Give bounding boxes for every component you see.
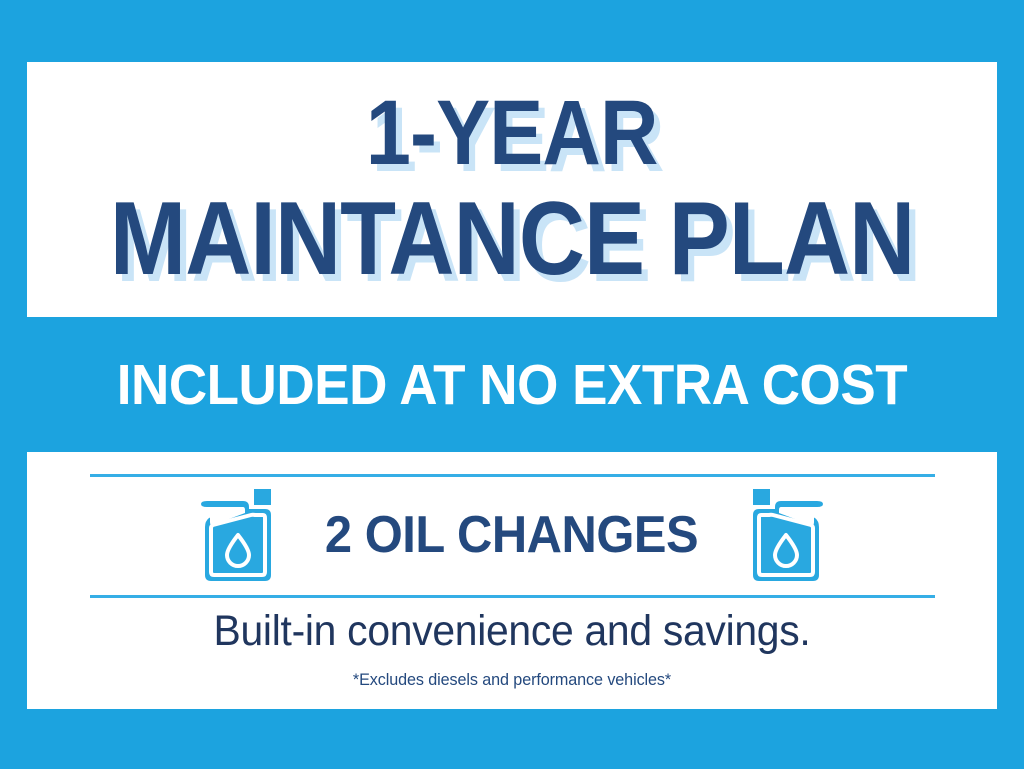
headline-line-2: MAINTANCE PLAN <box>110 189 915 291</box>
divider-rule-bottom <box>90 595 935 598</box>
headline-line-1: 1-YEAR <box>366 88 658 178</box>
tagline: Built-in convenience and savings. <box>51 607 973 656</box>
promo-poster: 1-YEAR MAINTANCE PLAN INCLUDED AT NO EXT… <box>0 0 1024 769</box>
oil-bottle-icon-right <box>751 487 825 583</box>
offer-row: 2 OIL CHANGES <box>27 482 997 588</box>
offer-label: 2 OIL CHANGES <box>325 505 698 565</box>
details-card: 2 OIL CHANGES Built-in convenience and s… <box>27 452 997 709</box>
headline-card: 1-YEAR MAINTANCE PLAN <box>27 62 997 317</box>
divider-rule-top <box>90 474 935 477</box>
subheading-band: INCLUDED AT NO EXTRA COST <box>0 317 1024 452</box>
disclaimer-text: *Excludes diesels and performance vehicl… <box>51 670 973 690</box>
subheading-text: INCLUDED AT NO EXTRA COST <box>117 352 907 418</box>
oil-bottle-icon-left <box>199 487 273 583</box>
